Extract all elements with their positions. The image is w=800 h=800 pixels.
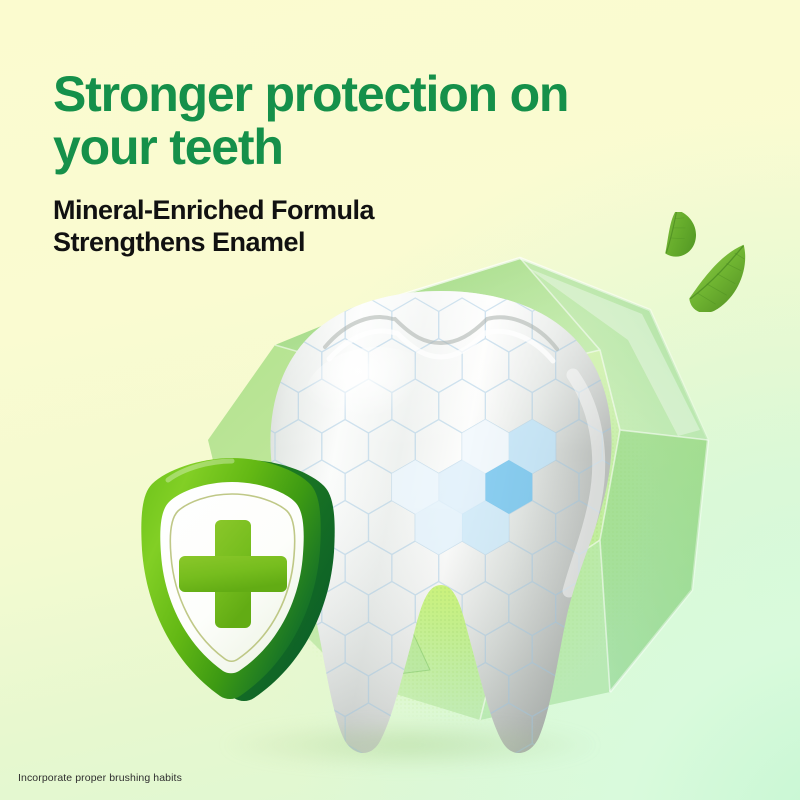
headline: Stronger protection on your teeth xyxy=(53,68,693,174)
protection-shield-badge xyxy=(128,452,343,707)
subheadline: Mineral-Enriched Formula Strengthens Ena… xyxy=(53,194,693,258)
disclaimer-text: Incorporate proper brushing habits xyxy=(18,772,182,784)
headline-line-2: your teeth xyxy=(53,119,283,175)
ground-shadow xyxy=(150,690,670,800)
copy-block: Stronger protection on your teeth Minera… xyxy=(53,68,693,258)
subheadline-line-1: Mineral-Enriched Formula xyxy=(53,195,374,225)
subheadline-line-2: Strengthens Enamel xyxy=(53,227,305,257)
headline-line-1: Stronger protection on xyxy=(53,66,568,122)
advertisement-banner: Stronger protection on your teeth Minera… xyxy=(0,0,800,800)
